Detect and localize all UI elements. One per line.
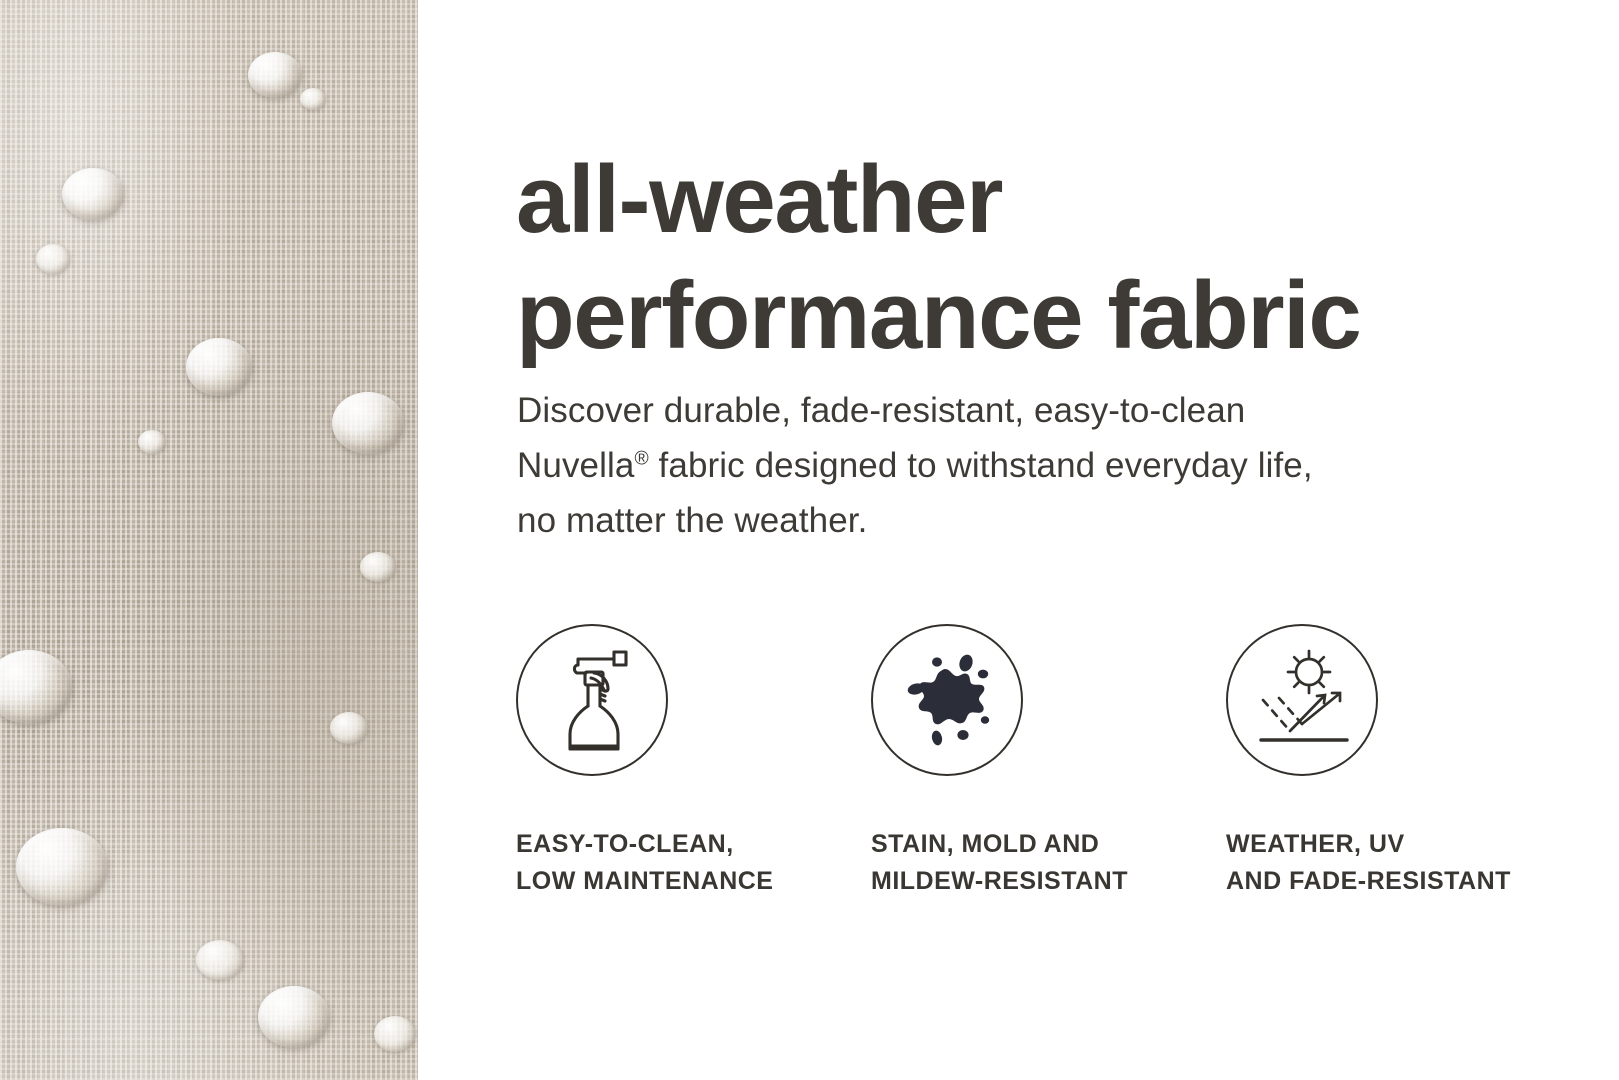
- water-droplet: [196, 940, 244, 980]
- water-droplet: [248, 52, 302, 98]
- page-title: all-weather performance fabric: [516, 142, 1576, 374]
- water-droplet: [300, 88, 326, 110]
- registered-trademark-mark: ®: [634, 448, 648, 469]
- stain-splatter-icon: [895, 648, 999, 752]
- water-droplet: [330, 712, 368, 744]
- feature-badge-circle: [871, 624, 1023, 776]
- water-droplet: [332, 392, 404, 454]
- subcopy-line-3: no matter the weather.: [517, 493, 1477, 548]
- headline-line-1: all-weather: [516, 142, 1576, 258]
- water-droplet: [360, 552, 396, 582]
- feature-list: EASY-TO-CLEAN, LOW MAINTENANCE: [516, 624, 1596, 900]
- spray-bottle-icon: [544, 646, 640, 754]
- brand-name: Nuvella: [517, 446, 634, 485]
- subcopy-line-2: Nuvella® fabric designed to withstand ev…: [517, 438, 1477, 493]
- water-droplet: [62, 168, 124, 220]
- feature-label: EASY-TO-CLEAN, LOW MAINTENANCE: [516, 826, 773, 900]
- feature-easy-to-clean: EASY-TO-CLEAN, LOW MAINTENANCE: [516, 624, 871, 900]
- content-panel: all-weather performance fabric Discover …: [418, 0, 1619, 1080]
- subcopy: Discover durable, fade-resistant, easy-t…: [517, 383, 1477, 548]
- subcopy-line-1: Discover durable, fade-resistant, easy-t…: [517, 383, 1477, 438]
- fabric-lighting-overlay: [0, 0, 418, 1080]
- feature-badge-circle: [516, 624, 668, 776]
- water-droplet: [36, 244, 70, 274]
- feature-badge-circle: [1226, 624, 1378, 776]
- subcopy-line-2-rest: fabric designed to withstand everyday li…: [649, 446, 1313, 485]
- water-droplet: [374, 1016, 416, 1052]
- water-droplet: [138, 430, 166, 454]
- feature-weather-uv-resistant: WEATHER, UV AND FADE-RESISTANT: [1226, 624, 1581, 900]
- headline-line-2: performance fabric: [516, 258, 1576, 374]
- water-droplet: [16, 828, 108, 906]
- feature-label: STAIN, MOLD AND MILDEW-RESISTANT: [871, 826, 1128, 900]
- sun-uv-reflect-icon: [1249, 648, 1355, 752]
- water-droplet: [258, 986, 330, 1048]
- all-weather-fabric-banner: all-weather performance fabric Discover …: [0, 0, 1619, 1080]
- water-droplet: [186, 338, 252, 396]
- fabric-photo-panel: [0, 0, 418, 1080]
- feature-label: WEATHER, UV AND FADE-RESISTANT: [1226, 826, 1511, 900]
- feature-stain-resistant: STAIN, MOLD AND MILDEW-RESISTANT: [871, 624, 1226, 900]
